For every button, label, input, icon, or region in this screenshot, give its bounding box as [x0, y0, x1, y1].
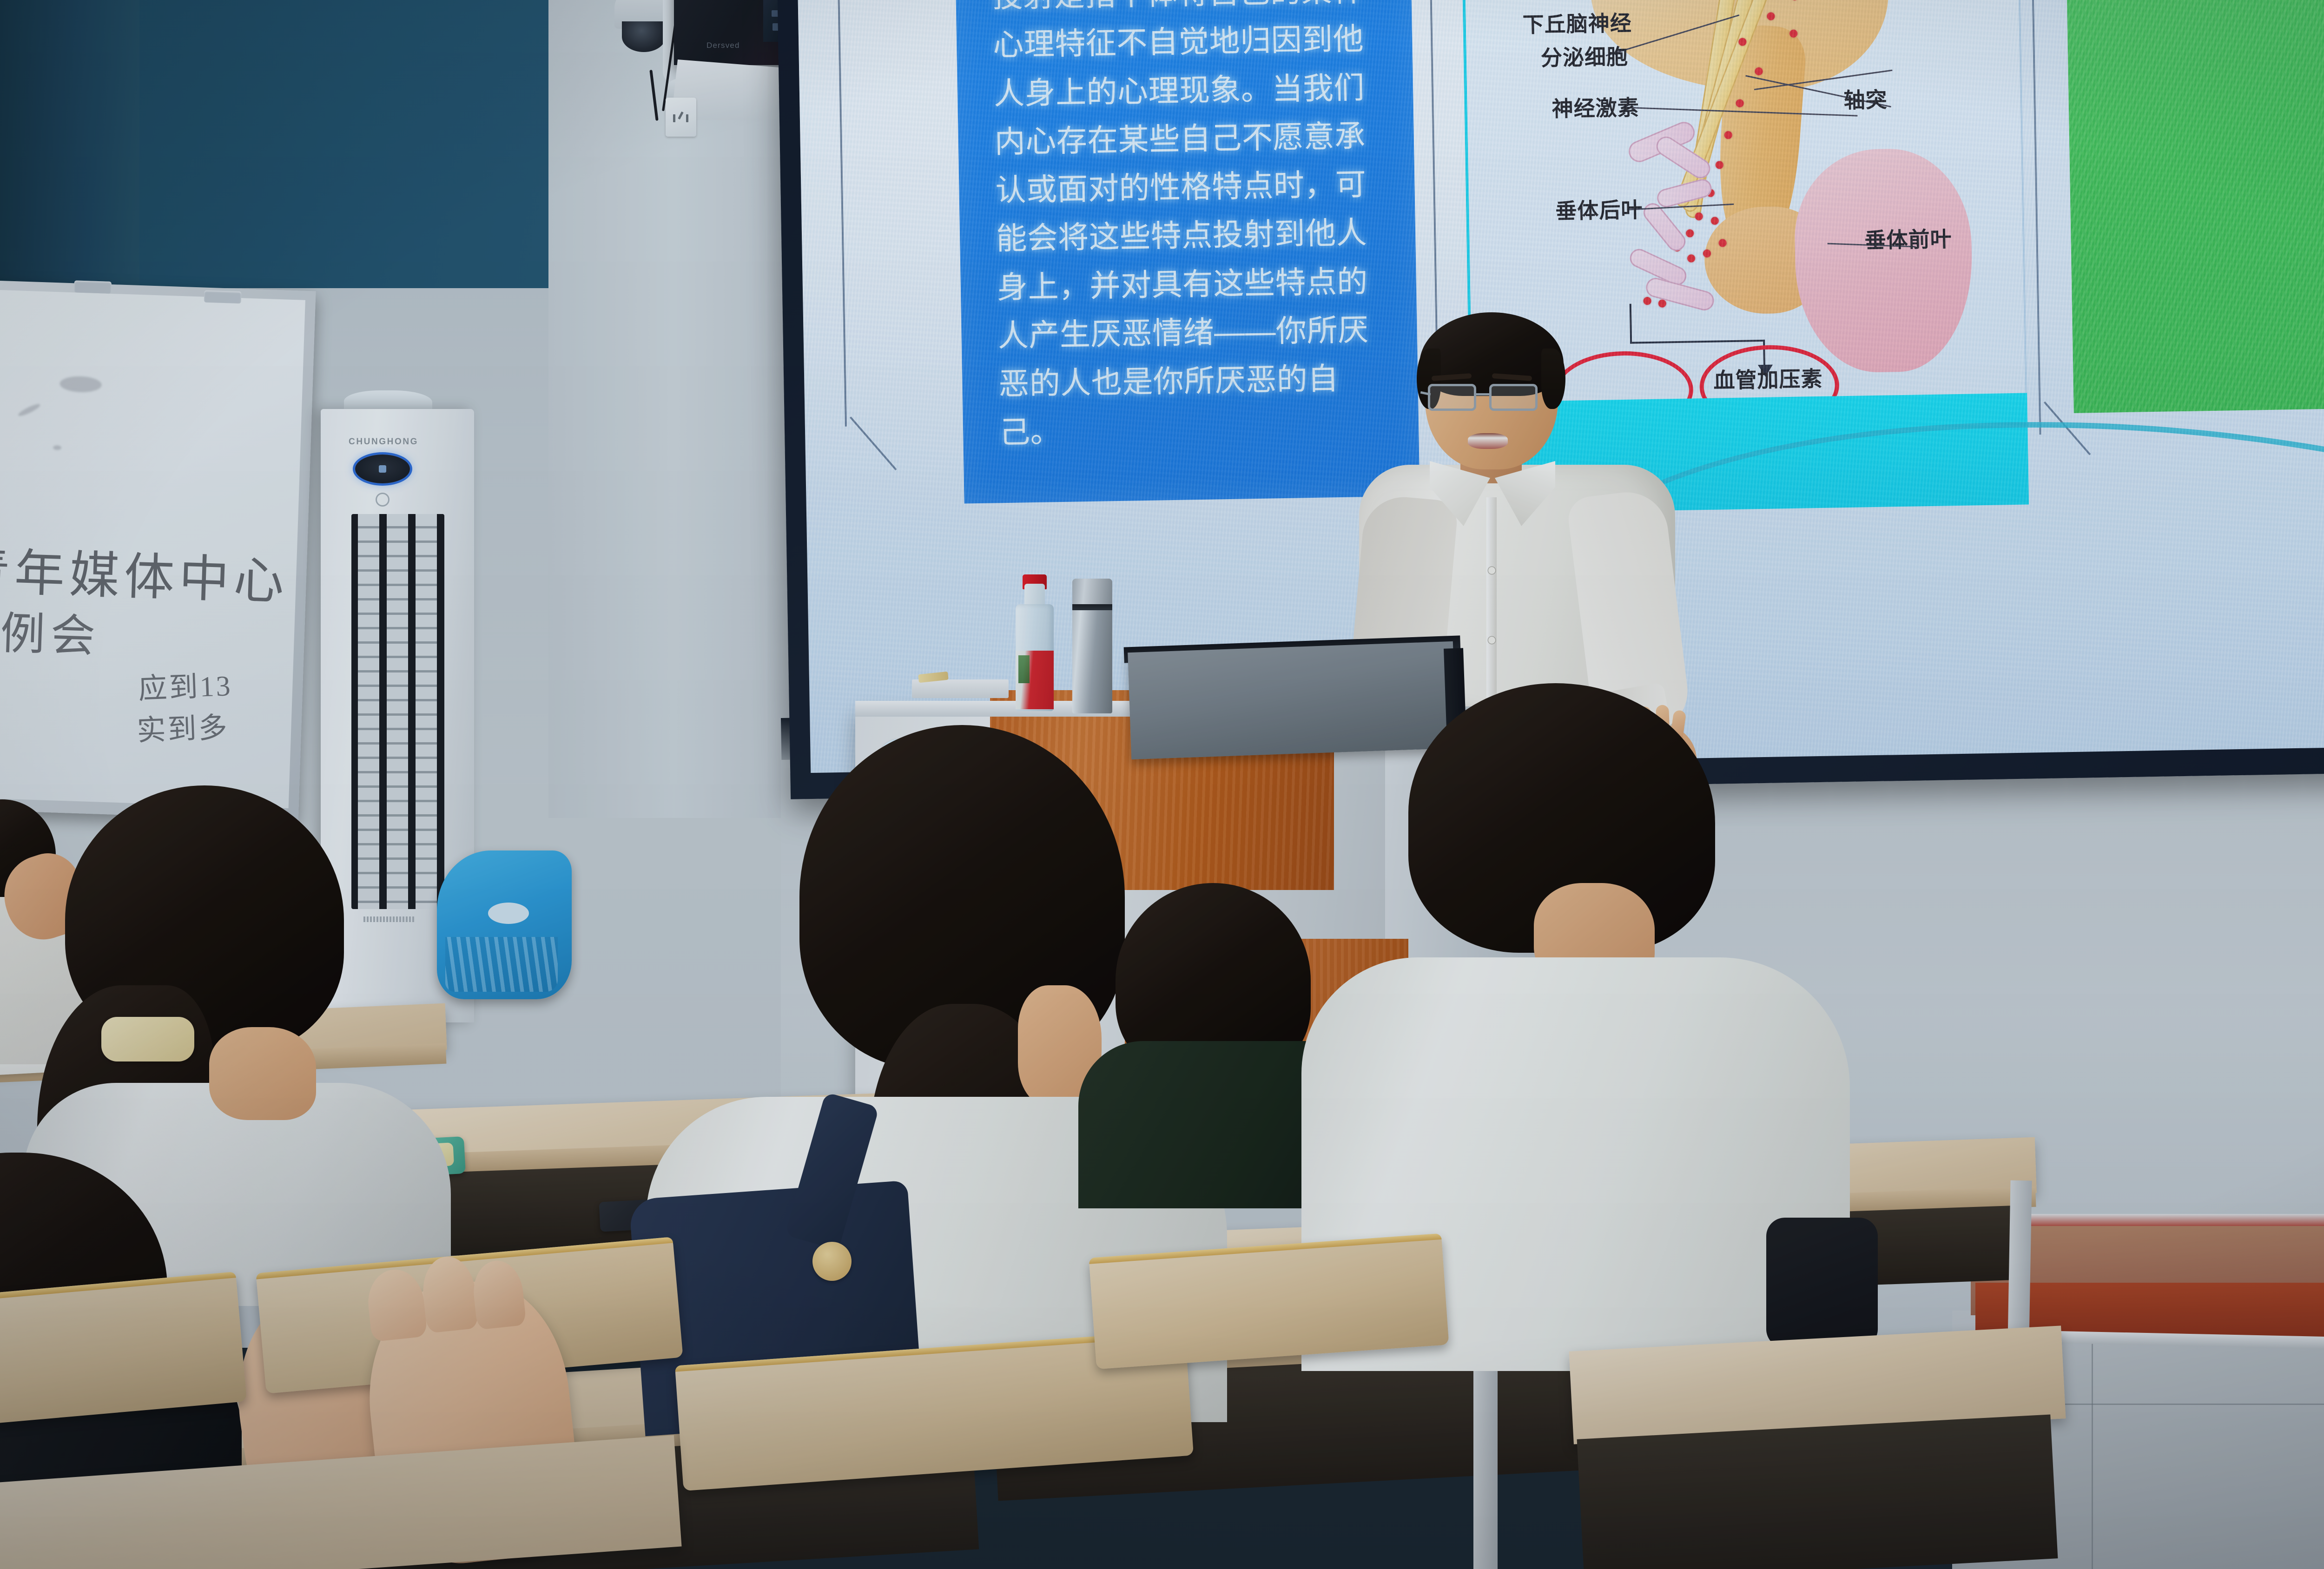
eyeglasses-lens-left	[1428, 384, 1476, 411]
presenter-mouth	[1468, 433, 1508, 449]
left-wall-column	[0, 0, 139, 297]
presenter-hair-side-right	[1541, 349, 1565, 409]
green-panel-texture	[2066, 0, 2324, 413]
diagram-label-vasopressin: 血管加压素	[1713, 362, 1823, 395]
whiteboard-clip-left	[74, 280, 112, 294]
whiteboard-surface: 青年媒体中心 例会 应到13 实到多	[0, 289, 305, 809]
bottle-label	[1016, 651, 1054, 709]
diagram-label-secretory-cell: 分泌细胞	[1540, 40, 1628, 72]
whiteboard: 青年媒体中心 例会 应到13 实到多	[0, 279, 316, 821]
whiteboard-clip-right	[204, 290, 242, 304]
ac-brand-label: CHUNGHONG	[349, 437, 418, 447]
desk-front-right-shadow	[1577, 1415, 2058, 1569]
eyeglasses-bridge	[1476, 393, 1489, 396]
classroom-scene: Dersved 青年媒体中心 例会 应到13 实到多 CHUNGHONG	[0, 0, 2324, 1569]
student-right-bag	[1766, 1218, 1878, 1348]
diagram-label-posterior-pituitary: 垂体后叶	[1555, 193, 1643, 225]
diagram-label-anterior-pituitary: 垂体前叶	[1864, 222, 1952, 254]
diagram-label-neurohormone: 神经激素	[1552, 91, 1639, 123]
chair-back-foreground-left[interactable]	[0, 1272, 247, 1424]
power-socket-icon[interactable]	[666, 98, 696, 137]
student-front-left-neck	[209, 1027, 316, 1120]
bracket-line-right	[2031, 0, 2041, 435]
diagram-label-axon: 轴突	[1843, 83, 1888, 114]
thermos-cap[interactable]	[1072, 579, 1112, 606]
whiteboard-line-4: 实到多	[136, 704, 230, 749]
dome-camera-icon	[622, 21, 666, 52]
ac-power-indicator[interactable]	[355, 455, 410, 483]
ac-logo-icon	[376, 493, 390, 507]
slide-panel-green	[2066, 0, 2324, 413]
diagram-label-hypothalamic-nerve: 下丘脑神经	[1522, 7, 1632, 39]
eyeglasses-lens-right	[1489, 384, 1538, 411]
whiteboard-line-2: 例会	[0, 597, 102, 665]
slide-paragraph: 投射是指个体将自己的某种心理特征不自觉地归因到他人身上的心理现象。当我们内心存在…	[992, 0, 1398, 457]
overall-button-left	[812, 1242, 852, 1281]
chalk-tray	[912, 679, 1009, 698]
whiteboard-line-3: 应到13	[138, 662, 233, 707]
anterior-pituitary-shape	[1793, 148, 1974, 374]
hair-scrunchie	[101, 1017, 194, 1061]
thermos-ring	[1072, 604, 1112, 610]
desk-leg-front-1	[1473, 1348, 1498, 1569]
speaker-brand-label: Dersved	[706, 41, 740, 50]
